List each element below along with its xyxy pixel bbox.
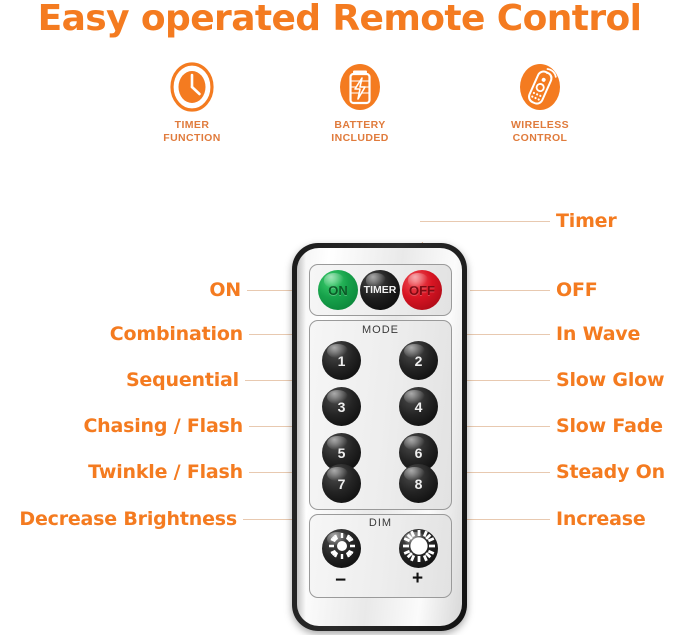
remote-faceplate: ON TIMER OFF MODE 1 2 3 4 5 6 7 8 DIM — [297, 248, 462, 626]
callout-label-combination: Combination — [110, 323, 243, 345]
callout-label-twinkle-flash: Twinkle / Flash — [88, 461, 243, 483]
wireless-remote-icon — [517, 60, 563, 114]
callout-label-steady-on: Steady On — [556, 461, 665, 483]
callout-label-on: ON — [209, 279, 241, 301]
dim-button-panel: DIM — [309, 514, 452, 598]
remote-control-device: ON TIMER OFF MODE 1 2 3 4 5 6 7 8 DIM — [292, 243, 467, 631]
sun-small-icon — [327, 531, 357, 566]
mode-button-1[interactable]: 1 — [322, 341, 361, 380]
feature-caption: TIMER FUNCTION — [132, 119, 252, 144]
dim-caption: DIM — [310, 517, 451, 529]
timer-clock-icon — [169, 60, 215, 114]
mode-button-3[interactable]: 3 — [322, 387, 361, 426]
on-button[interactable]: ON — [318, 270, 358, 310]
page-title: Easy operated Remote Control — [0, 0, 679, 39]
callout-label-sequential: Sequential — [126, 369, 239, 391]
callout-label-chasing-flash: Chasing / Flash — [83, 415, 243, 437]
product-infographic: Easy operated Remote Control TIMER FUNCT… — [0, 0, 679, 635]
callout-label-slow-fade: Slow Fade — [556, 415, 663, 437]
mode-caption: MODE — [310, 324, 451, 336]
callout-label-in-wave: In Wave — [556, 323, 640, 345]
dim-minus-sign: − — [335, 570, 346, 592]
leader-line-timer — [420, 221, 550, 222]
dim-up-button[interactable] — [399, 529, 438, 568]
callout-label-decrease-brightness: Decrease Brightness — [19, 508, 237, 530]
timer-button[interactable]: TIMER — [360, 270, 400, 310]
battery-icon — [337, 60, 383, 114]
feature-battery-included: BATTERY INCLUDED — [300, 60, 420, 144]
dim-plus-sign: + — [412, 568, 423, 590]
callout-label-increase: Increase — [556, 508, 646, 530]
mode-button-2[interactable]: 2 — [399, 341, 438, 380]
feature-caption: WIRELESS CONTROL — [480, 119, 600, 144]
feature-timer-function: TIMER FUNCTION — [132, 60, 252, 144]
mode-button-8[interactable]: 8 — [399, 464, 438, 503]
feature-caption: BATTERY INCLUDED — [300, 119, 420, 144]
power-button-panel: ON TIMER OFF — [309, 264, 452, 316]
dim-down-button[interactable] — [322, 529, 361, 568]
sun-large-icon — [402, 529, 436, 568]
off-button[interactable]: OFF — [402, 270, 442, 310]
callout-label-off: OFF — [556, 279, 598, 301]
mode-button-panel: MODE 1 2 3 4 5 6 7 8 — [309, 320, 452, 510]
leader-line-off — [470, 290, 550, 291]
callout-label-slow-glow: Slow Glow — [556, 369, 664, 391]
mode-button-7[interactable]: 7 — [322, 464, 361, 503]
feature-wireless-control: WIRELESS CONTROL — [480, 60, 600, 144]
mode-button-4[interactable]: 4 — [399, 387, 438, 426]
callout-label-timer: Timer — [556, 210, 617, 232]
